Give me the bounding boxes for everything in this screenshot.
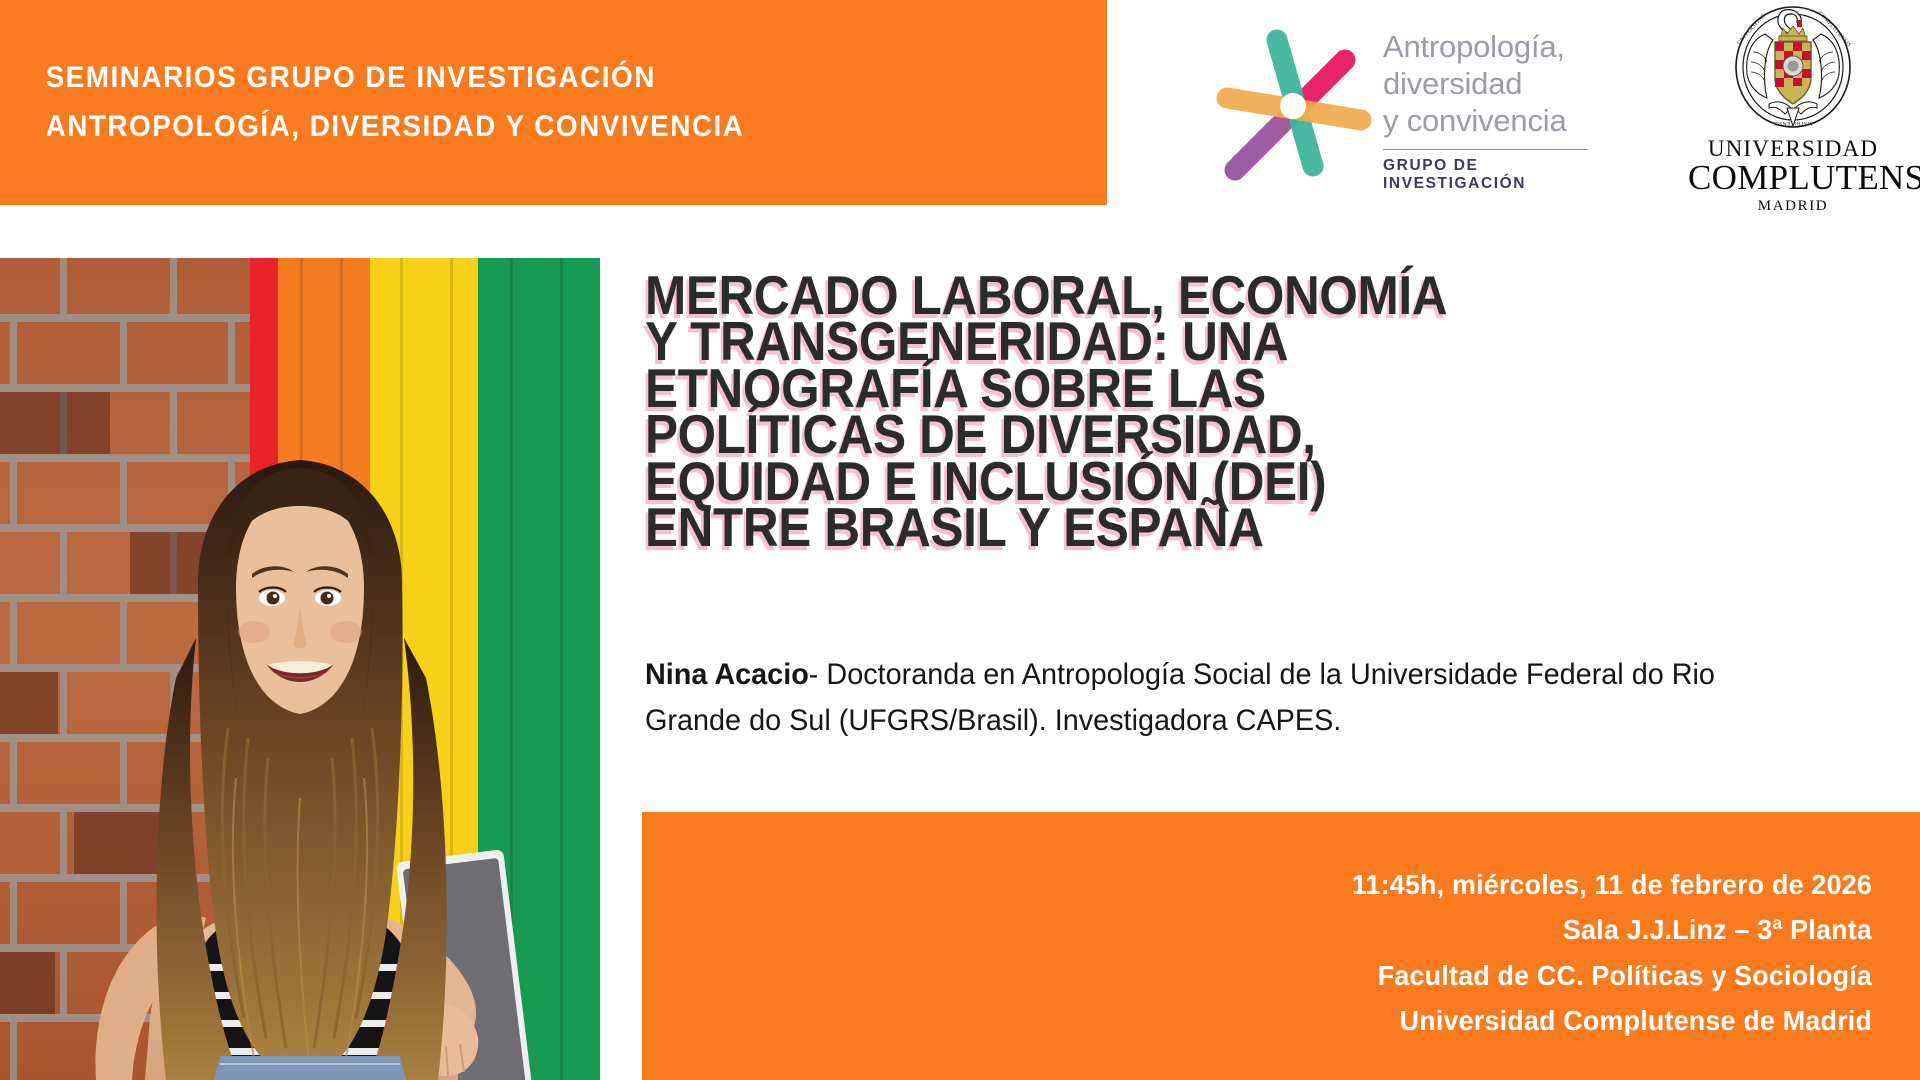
logo-line-3: y convivencia: [1383, 102, 1598, 139]
ucm-coat-of-arms-icon: UNIVERSITAS COMPLUTENSIS MATRITENSIS: [1719, 4, 1867, 134]
research-group-wordmark: Antropología, diversidad y convivencia G…: [1383, 28, 1598, 193]
talk-title: MERCADO LABORAL, ECONOMÍA Y TRANSGENERID…: [645, 272, 1680, 551]
event-faculty: Facultad de CC. Políticas y Sociología: [691, 953, 1872, 998]
speaker-portrait-image: [0, 258, 600, 1080]
logo-divider: [1383, 149, 1588, 150]
speaker-portrait: [0, 258, 600, 1080]
event-datetime: 11:45h, miércoles, 11 de febrero de 2026: [691, 862, 1872, 907]
header-banner: SEMINARIOS GRUPO DE INVESTIGACIÓN ANTROP…: [0, 0, 1107, 205]
event-details-block: 11:45h, miércoles, 11 de febrero de 2026…: [642, 812, 1920, 1080]
ucm-line-3: MADRID: [1688, 198, 1898, 215]
research-group-logo: Antropología, diversidad y convivencia G…: [1215, 22, 1600, 187]
speaker-info: Nina Acacio- Doctoranda en Antropología …: [645, 652, 1787, 743]
header-title: SEMINARIOS GRUPO DE INVESTIGACIÓN ANTROP…: [0, 54, 744, 151]
event-university: Universidad Complutense de Madrid: [691, 998, 1872, 1043]
university-logo: UNIVERSITAS COMPLUTENSIS MATRITENSIS: [1688, 4, 1898, 192]
logo-subtitle: GRUPO DE INVESTIGACIÓN: [1383, 157, 1598, 193]
speaker-name: Nina Acacio: [645, 658, 809, 691]
logo-line-1: Antropología,: [1383, 28, 1598, 65]
colorful-asterisk-logo-icon: [1215, 26, 1375, 186]
ucm-line-2: COMPLUTENSE: [1688, 160, 1898, 195]
event-room: Sala J.J.Linz – 3ª Planta: [691, 907, 1872, 952]
logo-line-2: diversidad: [1383, 65, 1598, 102]
